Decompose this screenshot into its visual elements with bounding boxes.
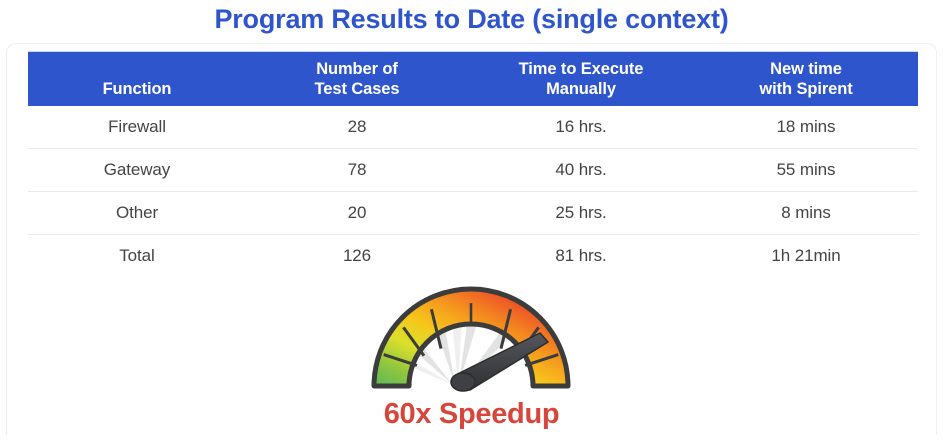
results-table: Function Number of Test Cases Time to Ex… [28, 52, 918, 277]
cell-function: Total [28, 235, 246, 277]
table-header-row: Function Number of Test Cases Time to Ex… [28, 52, 918, 106]
cell-function: Gateway [28, 149, 246, 191]
column-header-manual-time-line2: Manually [519, 79, 644, 99]
table-row: Other 20 25 hrs. 8 mins [28, 191, 918, 234]
table-row: Total 126 81 hrs. 1h 21min [28, 234, 918, 277]
page-title: Program Results to Date (single context) [0, 2, 943, 36]
table-row: Gateway 78 40 hrs. 55 mins [28, 148, 918, 191]
column-header-test-cases-line1: Number of [315, 59, 400, 79]
column-header-test-cases: Number of Test Cases [246, 52, 468, 106]
cell-manual-time: 40 hrs. [468, 149, 694, 191]
column-header-spirent-time-line1: New time [759, 59, 852, 79]
column-header-spirent-time-line2: with Spirent [759, 79, 852, 99]
cell-test-cases: 28 [246, 106, 468, 148]
cell-spirent-time: 55 mins [694, 149, 918, 191]
results-slide: Program Results to Date (single context)… [0, 0, 943, 442]
cell-test-cases: 20 [246, 192, 468, 234]
column-header-manual-time-line1: Time to Execute [519, 59, 644, 79]
column-header-spirent-time: New time with Spirent [694, 52, 918, 106]
cell-spirent-time: 1h 21min [694, 235, 918, 277]
cell-spirent-time: 18 mins [694, 106, 918, 148]
table-row: Firewall 28 16 hrs. 18 mins [28, 106, 918, 148]
column-header-function: Function [28, 52, 246, 106]
speedup-label: 60x Speedup [0, 396, 943, 432]
speedometer-gauge-icon [352, 286, 590, 392]
cell-manual-time: 81 hrs. [468, 235, 694, 277]
cell-function: Firewall [28, 106, 246, 148]
cell-spirent-time: 8 mins [694, 192, 918, 234]
cell-function: Other [28, 192, 246, 234]
cell-manual-time: 16 hrs. [468, 106, 694, 148]
column-header-test-cases-line2: Test Cases [315, 79, 400, 99]
cell-test-cases: 78 [246, 149, 468, 191]
cell-manual-time: 25 hrs. [468, 192, 694, 234]
column-header-manual-time: Time to Execute Manually [468, 52, 694, 106]
column-header-function-line2: Function [103, 79, 172, 99]
cell-test-cases: 126 [246, 235, 468, 277]
